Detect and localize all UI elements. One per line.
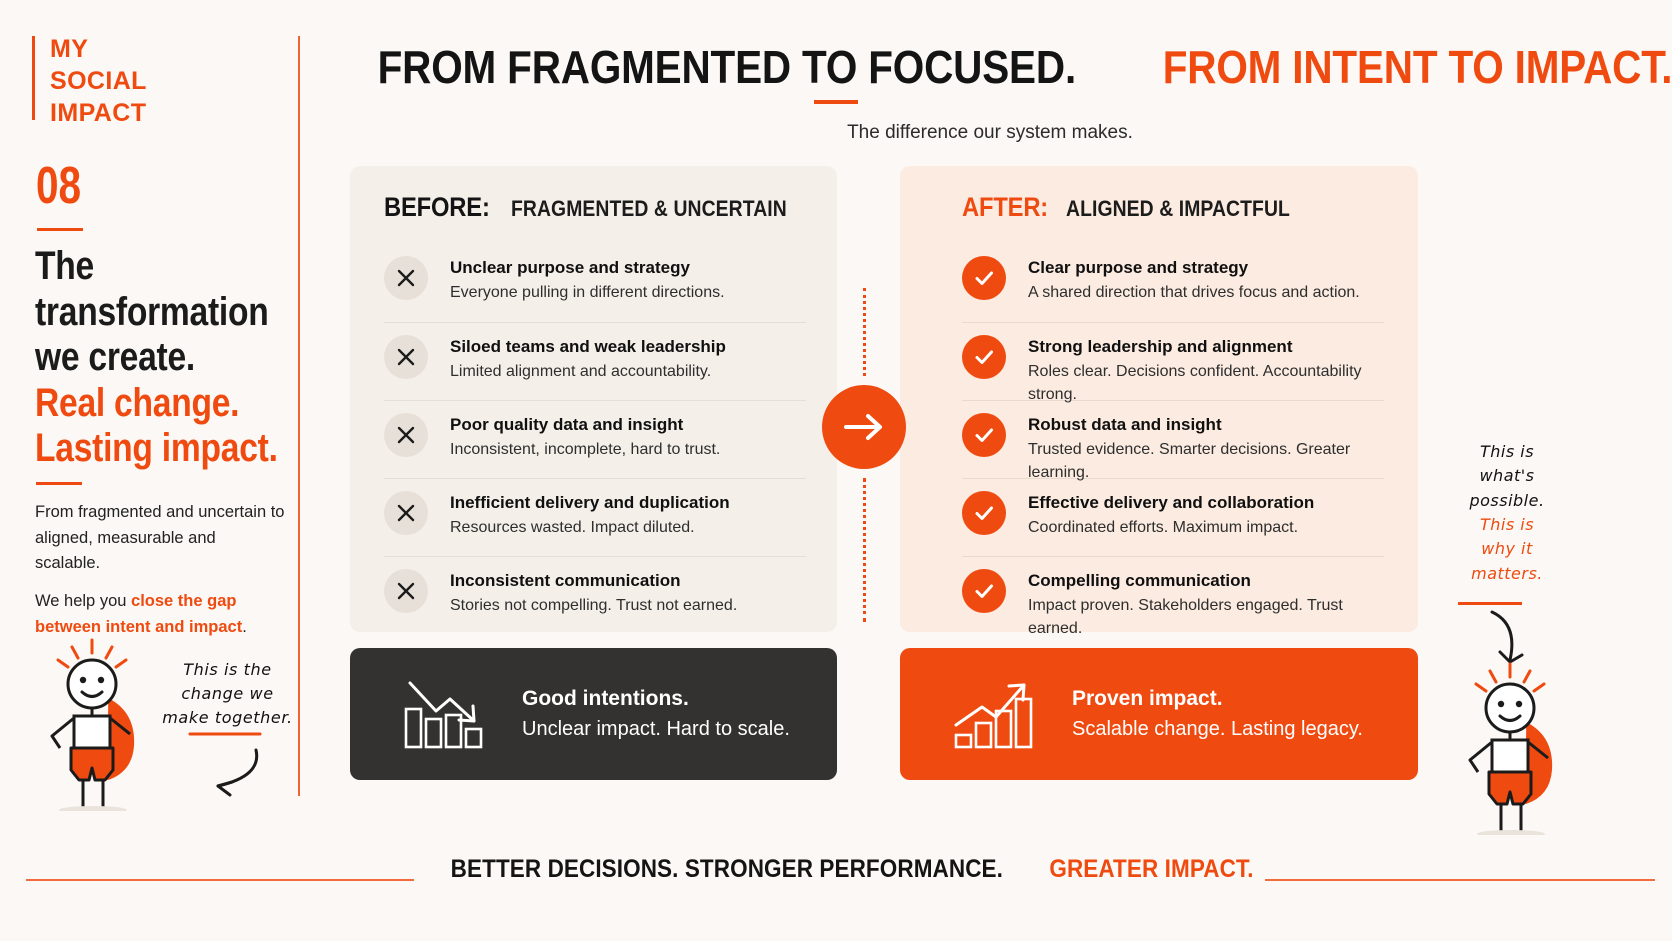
subtitle: The difference our system makes. <box>330 122 1650 144</box>
x-icon <box>384 569 428 613</box>
brand-accent-rule <box>32 36 35 120</box>
before-subtitle: FRAGMENTED & UNCERTAIN <box>511 196 787 222</box>
note-right-divider <box>1458 602 1522 605</box>
after-subtitle: ALIGNED & IMPACTFUL <box>1066 196 1290 222</box>
brand-logo: MY SOCIAL IMPACT <box>50 33 147 129</box>
headline-line-3: we create. <box>35 335 260 381</box>
check-icon <box>962 256 1006 300</box>
check-icon <box>962 491 1006 535</box>
item-desc: Roles clear. Decisions confident. Accoun… <box>1028 361 1384 406</box>
brand-line-2: SOCIAL <box>50 65 147 97</box>
before-banner-line-1: Good intentions. <box>522 685 790 713</box>
rising-bar-chart-icon <box>952 677 1038 751</box>
arrow-right-icon <box>822 385 906 469</box>
note-right-accent-line-3: matters. <box>1448 562 1566 586</box>
blurb-prefix: We help you <box>35 592 131 610</box>
item-desc: Trusted evidence. Smarter decisions. Gre… <box>1028 439 1384 484</box>
item-desc: A shared direction that drives focus and… <box>1028 282 1360 305</box>
item-title: Inefficient delivery and duplication <box>450 492 730 514</box>
x-icon <box>384 335 428 379</box>
after-panel: AFTER: ALIGNED & IMPACTFUL Clear purpose… <box>900 166 1418 632</box>
footer-text: BETTER DECISIONS. STRONGER PERFORMANCE. … <box>420 855 1260 884</box>
footer-part-1: BETTER DECISIONS. STRONGER PERFORMANCE. <box>451 855 1003 884</box>
blurb-paragraph-2: We help you close the gap between intent… <box>35 589 285 640</box>
item-desc: Stories not compelling. Trust not earned… <box>450 595 737 618</box>
note-left-line-2: change we <box>160 682 295 706</box>
item-title: Effective delivery and collaboration <box>1028 492 1314 514</box>
before-label: BEFORE: <box>384 192 490 223</box>
headline-accent-line-1: Real change. <box>35 381 260 427</box>
after-banner-line-1: Proven impact. <box>1072 685 1363 713</box>
superhero-figure-icon <box>1448 660 1578 835</box>
list-item: Clear purpose and strategy A shared dire… <box>962 244 1384 322</box>
footer-rule-right <box>1265 879 1655 881</box>
before-banner-line-2: Unclear impact. Hard to scale. <box>522 716 790 743</box>
item-title: Poor quality data and insight <box>450 414 720 436</box>
item-title: Strong leadership and alignment <box>1028 336 1384 358</box>
step-divider <box>37 228 83 231</box>
list-item: Robust data and insight Trusted evidence… <box>962 400 1384 478</box>
before-list: Unclear purpose and strategy Everyone pu… <box>384 244 806 634</box>
list-item: Poor quality data and insight Inconsiste… <box>384 400 806 478</box>
x-icon <box>384 413 428 457</box>
blurb-paragraph-1: From fragmented and uncertain to aligned… <box>35 500 285 577</box>
curved-arrow-left-icon <box>160 728 300 798</box>
list-item: Siloed teams and weak leadership Limited… <box>384 322 806 400</box>
list-item: Inconsistent communication Stories not c… <box>384 556 806 634</box>
note-right-accent-line-2: why it <box>1448 537 1566 561</box>
brand-line-3: IMPACT <box>50 97 147 129</box>
note-right-line-3: possible. <box>1448 489 1566 513</box>
headline-line-2: transformation <box>35 290 260 336</box>
handwritten-note-left: This is the change we make together. <box>160 658 295 730</box>
item-desc: Resources wasted. Impact diluted. <box>450 517 730 540</box>
item-desc: Inconsistent, incomplete, hard to trust. <box>450 439 720 462</box>
item-desc: Everyone pulling in different directions… <box>450 282 725 305</box>
after-banner: Proven impact. Scalable change. Lasting … <box>900 648 1418 780</box>
before-banner-text: Good intentions. Unclear impact. Hard to… <box>522 685 790 743</box>
list-item: Compelling communication Impact proven. … <box>962 556 1384 634</box>
infographic-slide: MY SOCIAL IMPACT 08 The transformation w… <box>0 0 1672 941</box>
item-desc: Coordinated efforts. Maximum impact. <box>1028 517 1314 540</box>
item-title: Inconsistent communication <box>450 570 737 592</box>
after-panel-header: AFTER: ALIGNED & IMPACTFUL <box>962 192 1321 223</box>
note-right-accent-line-1: This is <box>1448 513 1566 537</box>
headline-line-1: The <box>35 244 260 290</box>
title-divider <box>814 100 858 104</box>
before-panel: BEFORE: FRAGMENTED & UNCERTAIN Unclear p… <box>350 166 837 632</box>
after-banner-text: Proven impact. Scalable change. Lasting … <box>1072 685 1363 743</box>
x-icon <box>384 491 428 535</box>
sidebar: MY SOCIAL IMPACT 08 The transformation w… <box>0 0 320 941</box>
superhero-figure-icon <box>30 636 160 811</box>
after-banner-line-2: Scalable change. Lasting legacy. <box>1072 716 1363 743</box>
list-item: Effective delivery and collaboration Coo… <box>962 478 1384 556</box>
check-icon <box>962 569 1006 613</box>
handwritten-note-right: This is what's possible. This is why it … <box>1448 440 1566 586</box>
connector-dotted-bottom <box>863 478 866 622</box>
item-title: Clear purpose and strategy <box>1028 257 1360 279</box>
sidebar-description: From fragmented and uncertain to aligned… <box>35 500 285 653</box>
list-item: Strong leadership and alignment Roles cl… <box>962 322 1384 400</box>
item-title: Robust data and insight <box>1028 414 1384 436</box>
page-title: The transformation we create. Real chang… <box>35 244 303 472</box>
before-banner: Good intentions. Unclear impact. Hard to… <box>350 648 837 780</box>
main-title-part-1: FROM FRAGMENTED TO FOCUSED. <box>378 40 1076 94</box>
after-label: AFTER: <box>962 192 1048 223</box>
after-list: Clear purpose and strategy A shared dire… <box>962 244 1384 634</box>
footer-rule-left <box>26 879 414 881</box>
sidebar-divider <box>298 36 300 796</box>
main-title: FROM FRAGMENTED TO FOCUSED. FROM INTENT … <box>330 40 1650 94</box>
main-title-part-2: FROM INTENT TO IMPACT. <box>1163 40 1672 94</box>
connector-dotted-top <box>863 288 866 376</box>
note-right-line-1: This is <box>1448 440 1566 464</box>
item-title: Siloed teams and weak leadership <box>450 336 726 358</box>
note-right-line-2: what's <box>1448 464 1566 488</box>
check-icon <box>962 335 1006 379</box>
brand-line-1: MY <box>50 33 147 65</box>
item-title: Compelling communication <box>1028 570 1384 592</box>
list-item: Inefficient delivery and duplication Res… <box>384 478 806 556</box>
item-desc: Impact proven. Stakeholders engaged. Tru… <box>1028 595 1384 640</box>
headline-accent-line-2: Lasting impact. <box>35 426 260 472</box>
declining-bar-chart-icon <box>402 677 488 751</box>
note-left-line-1: This is the <box>160 658 295 682</box>
footer-part-2: GREATER IMPACT. <box>1049 855 1253 884</box>
before-panel-header: BEFORE: FRAGMENTED & UNCERTAIN <box>384 192 824 223</box>
headline-divider <box>36 482 82 485</box>
blurb-suffix: . <box>242 618 247 636</box>
list-item: Unclear purpose and strategy Everyone pu… <box>384 244 806 322</box>
note-left-line-3: make together. <box>160 706 295 730</box>
item-desc: Limited alignment and accountability. <box>450 361 726 384</box>
step-number: 08 <box>36 160 81 212</box>
item-title: Unclear purpose and strategy <box>450 257 725 279</box>
check-icon <box>962 413 1006 457</box>
x-icon <box>384 256 428 300</box>
